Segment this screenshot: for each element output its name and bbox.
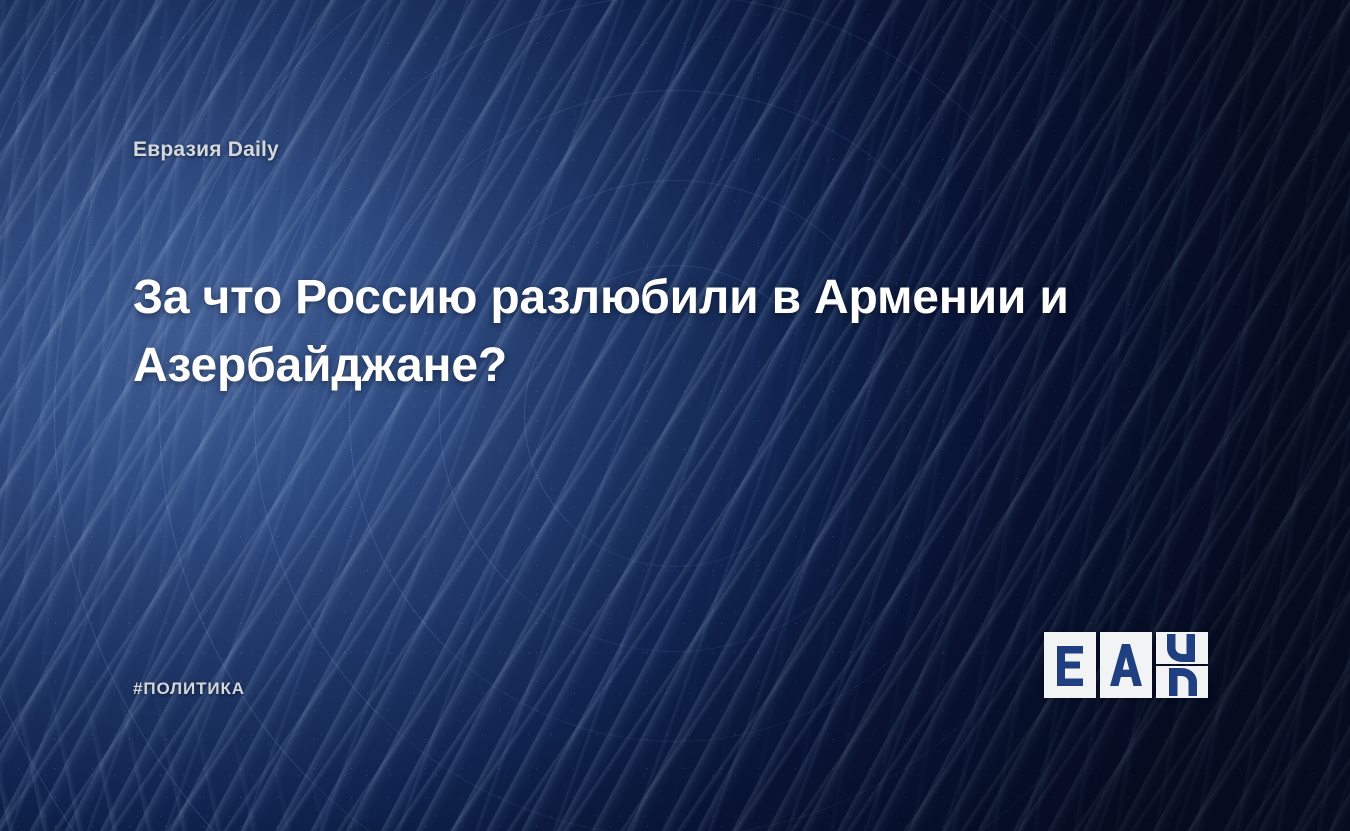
eadaily-logo[interactable] [1044, 632, 1208, 698]
logo-tile-d [1156, 632, 1208, 698]
social-share-card: Евразия Daily За что Россию разлюбили в … [0, 0, 1350, 831]
letter-e-icon [1055, 644, 1085, 686]
headline-title: За что Россию разлюбили в Армении и Азер… [133, 264, 1173, 400]
logo-tile-a [1100, 632, 1152, 698]
publisher-name: Евразия Daily [133, 138, 279, 162]
letter-d-lower-half-icon [1156, 666, 1208, 698]
letter-d-upper-half-icon [1156, 632, 1208, 664]
card-content: Евразия Daily За что Россию разлюбили в … [0, 0, 1350, 831]
letter-a-icon [1110, 644, 1142, 686]
logo-tile-e [1044, 632, 1096, 698]
category-hashtag: #ПОЛИТИКА [133, 679, 245, 699]
